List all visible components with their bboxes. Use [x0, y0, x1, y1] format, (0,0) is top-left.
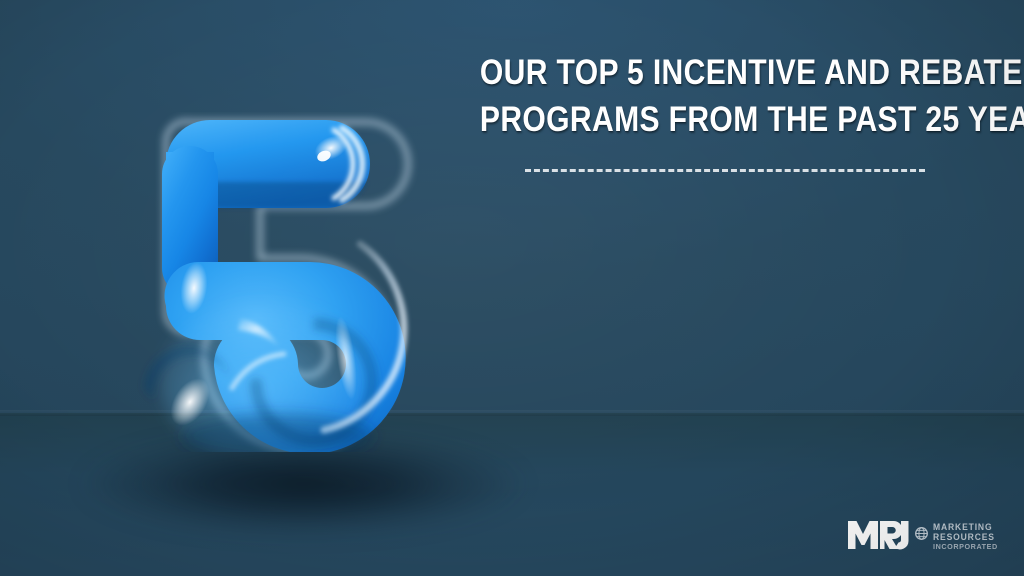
- brand-tagline: MARKETING RESOURCES INCORPORATED: [933, 523, 998, 550]
- headline-dashed-divider: [525, 169, 925, 172]
- brand-tagline-line-3: INCORPORATED: [933, 543, 998, 551]
- headline-line-2: PROGRAMS FROM THE PAST 25 YEARS: [480, 97, 970, 144]
- headline-line-1: OUR TOP 5 INCENTIVE AND REBATE: [480, 50, 970, 97]
- mri-wordmark-icon: [848, 520, 910, 555]
- page-title: OUR TOP 5 INCENTIVE AND REBATE PROGRAMS …: [480, 50, 970, 143]
- slide-canvas: OUR TOP 5 INCENTIVE AND REBATE PROGRAMS …: [0, 0, 1024, 576]
- balloon-numeral-5: [128, 112, 428, 452]
- globe-grid-icon: [915, 527, 928, 545]
- headline-block: OUR TOP 5 INCENTIVE AND REBATE PROGRAMS …: [440, 50, 1010, 172]
- brand-logo[interactable]: MARKETING RESOURCES INCORPORATED: [848, 516, 998, 558]
